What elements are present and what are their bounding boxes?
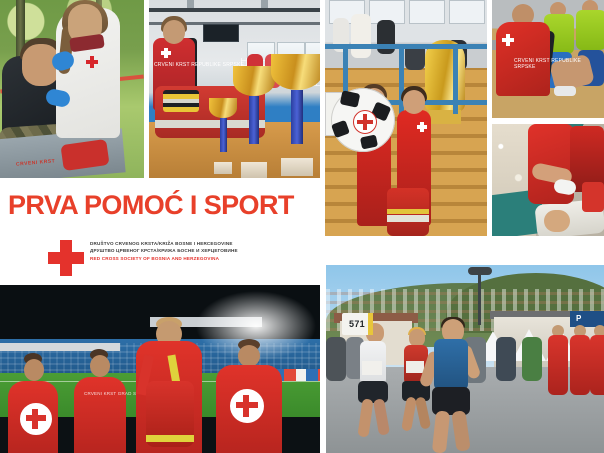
red-cross-staff <box>590 335 604 395</box>
spectator-figure <box>522 337 542 381</box>
red-cross-icon <box>502 34 514 46</box>
runner-leg <box>357 398 373 437</box>
page-title: PRVA POMOĆ I SPORT <box>8 190 318 220</box>
red-cross-icon <box>48 240 84 276</box>
volunteer-red-jacket <box>74 377 126 453</box>
scene: CRVENI KRST REPUBLIKE SRPSKE <box>149 0 320 178</box>
trophy-cup <box>233 66 275 96</box>
trophy-icon <box>233 66 275 178</box>
bag-reflective-stripe <box>387 215 429 222</box>
trophy-base <box>281 158 313 176</box>
red-cross-icon <box>161 48 171 58</box>
runner-leg <box>451 410 470 452</box>
uniform-text: CRVENI KRST REPUBLIKE SRPSKE <box>514 58 604 70</box>
photo-bleachers-football-ball <box>325 0 487 236</box>
race-bib <box>362 361 382 375</box>
scene: CRVENI KRST GRAD SARAJEVO <box>0 285 320 453</box>
red-cross-staff <box>570 335 590 395</box>
scene: CRVENI KRST REPUBLIKE SRPSKE <box>492 0 604 118</box>
race-bib-number: 571 <box>344 319 370 329</box>
runner-leg <box>401 396 417 431</box>
bag-yellow-stripe <box>387 209 429 214</box>
photo-trophies-sports-hall: CRVENI KRST REPUBLIKE SRPSKE <box>149 0 320 178</box>
red-cross-staff <box>548 335 568 395</box>
runner-leg <box>373 398 390 435</box>
photo-collage: CRVENI KRST <box>0 0 604 453</box>
trophy-stem <box>249 96 259 144</box>
trophy-cup <box>271 54 320 90</box>
spectator-figure <box>351 14 371 58</box>
red-cross-logo: DRUŠTVO CRVENOG KRSTA/KRIŽA BOSNE I HERC… <box>48 238 288 280</box>
green-jersey-player <box>576 10 604 50</box>
volunteer-head <box>90 355 110 377</box>
scene: CRVENI KRST <box>0 0 144 178</box>
sports-shoe <box>554 86 576 96</box>
trophy-base <box>241 162 267 178</box>
photo-stadium-night-duty: CRVENI KRST GRAD SARAJEVO <box>0 285 320 453</box>
spectator-figure <box>496 337 516 381</box>
handrail-post <box>453 44 458 114</box>
logo-line-english: RED CROSS SOCIETY OF BOSNIA AND HERZEGOV… <box>90 255 290 262</box>
photo-first-aid-outdoor: CRVENI KRST <box>0 0 144 178</box>
runner-figure <box>350 321 394 445</box>
red-cross-icon <box>86 56 98 68</box>
ceiling-beam <box>149 8 320 12</box>
runner-figure-foreground <box>422 317 478 451</box>
handrail <box>325 44 487 49</box>
trophy-base <box>214 162 232 174</box>
photo-marathon-runners: P <box>326 265 604 453</box>
photo-bench-green-jerseys: CRVENI KRST REPUBLIKE SRPSKE <box>492 0 604 118</box>
hall-window <box>409 0 445 24</box>
red-cross-icon <box>230 389 264 423</box>
trophy-stem <box>291 90 303 144</box>
scene <box>492 124 604 236</box>
volunteer-head <box>238 345 260 367</box>
spectator-figure <box>326 337 346 381</box>
red-cross-icon <box>353 110 377 134</box>
street-lamp-pole <box>478 269 481 325</box>
volunteer-head <box>163 20 185 44</box>
volunteer-head <box>24 359 44 381</box>
trophy-icon <box>271 54 320 178</box>
bag-reflective-roll <box>163 90 199 112</box>
hall-window <box>449 0 485 24</box>
patient-head <box>544 210 570 232</box>
scene: P <box>326 265 604 453</box>
trophy-stem <box>220 118 227 152</box>
parking-sign-label: P <box>576 314 581 323</box>
volunteer-head <box>403 90 425 114</box>
scoreboard <box>203 24 239 42</box>
red-first-aid-bag <box>582 182 604 212</box>
red-cross-icon <box>20 403 52 435</box>
photo-cpr-demonstration <box>492 124 604 236</box>
scene <box>325 0 487 236</box>
runner-leg <box>432 410 450 453</box>
logo-line-cyrillic: ДРУШТВО ЦРВЕНОГ КРСТА/КРИЖА БОСНЕ И ХЕРЦ… <box>90 247 290 254</box>
vest-text: CRVENI KRST REPUBLIKE SRPSKE <box>154 62 244 68</box>
logo-line-latin: DRUŠTVO CRVENOG KRSTA/KRIŽA BOSNE I HERC… <box>90 240 290 247</box>
red-cross-icon <box>417 122 427 132</box>
runner-singlet <box>434 339 468 391</box>
logo-text-block: DRUŠTVO CRVENOG KRSTA/KRIŽA BOSNE I HERC… <box>90 240 290 262</box>
backpack-reflective-stripe <box>146 435 194 442</box>
